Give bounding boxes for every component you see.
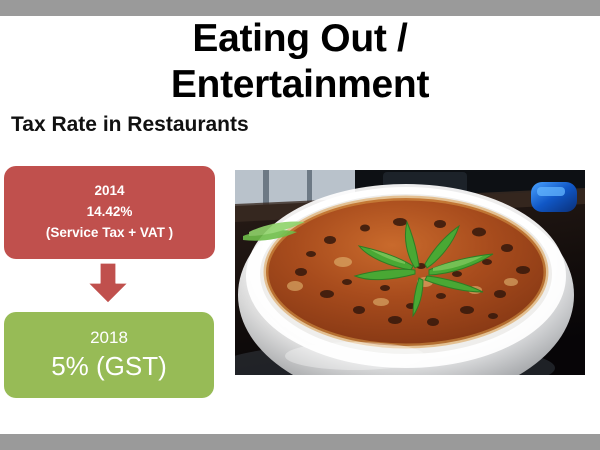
tax-rate-card-2018: 2018 5% (GST) (4, 312, 214, 398)
page-title: Eating Out / Entertainment (0, 16, 600, 108)
blue-object (531, 182, 577, 212)
food-photo (235, 170, 585, 375)
down-arrow-icon (87, 263, 129, 304)
tax-rate-card-2014: 2014 14.42% (Service Tax + VAT ) (4, 166, 215, 259)
bottom-band (0, 434, 600, 450)
top-band (0, 0, 600, 16)
card-2014-rate: 14.42% (87, 201, 133, 222)
slide-canvas: Eating Out / Entertainment Tax Rate in R… (0, 0, 600, 450)
page-title-line-1: Eating Out / (0, 16, 600, 62)
subtitle: Tax Rate in Restaurants (11, 112, 249, 138)
food-photo-illustration (235, 170, 585, 375)
card-2014-detail: (Service Tax + VAT ) (46, 222, 173, 243)
card-2018-rate: 5% (GST) (51, 350, 167, 383)
page-title-line-2: Entertainment (0, 62, 600, 108)
card-2014-year: 2014 (94, 181, 124, 201)
card-2018-year: 2018 (90, 326, 128, 350)
